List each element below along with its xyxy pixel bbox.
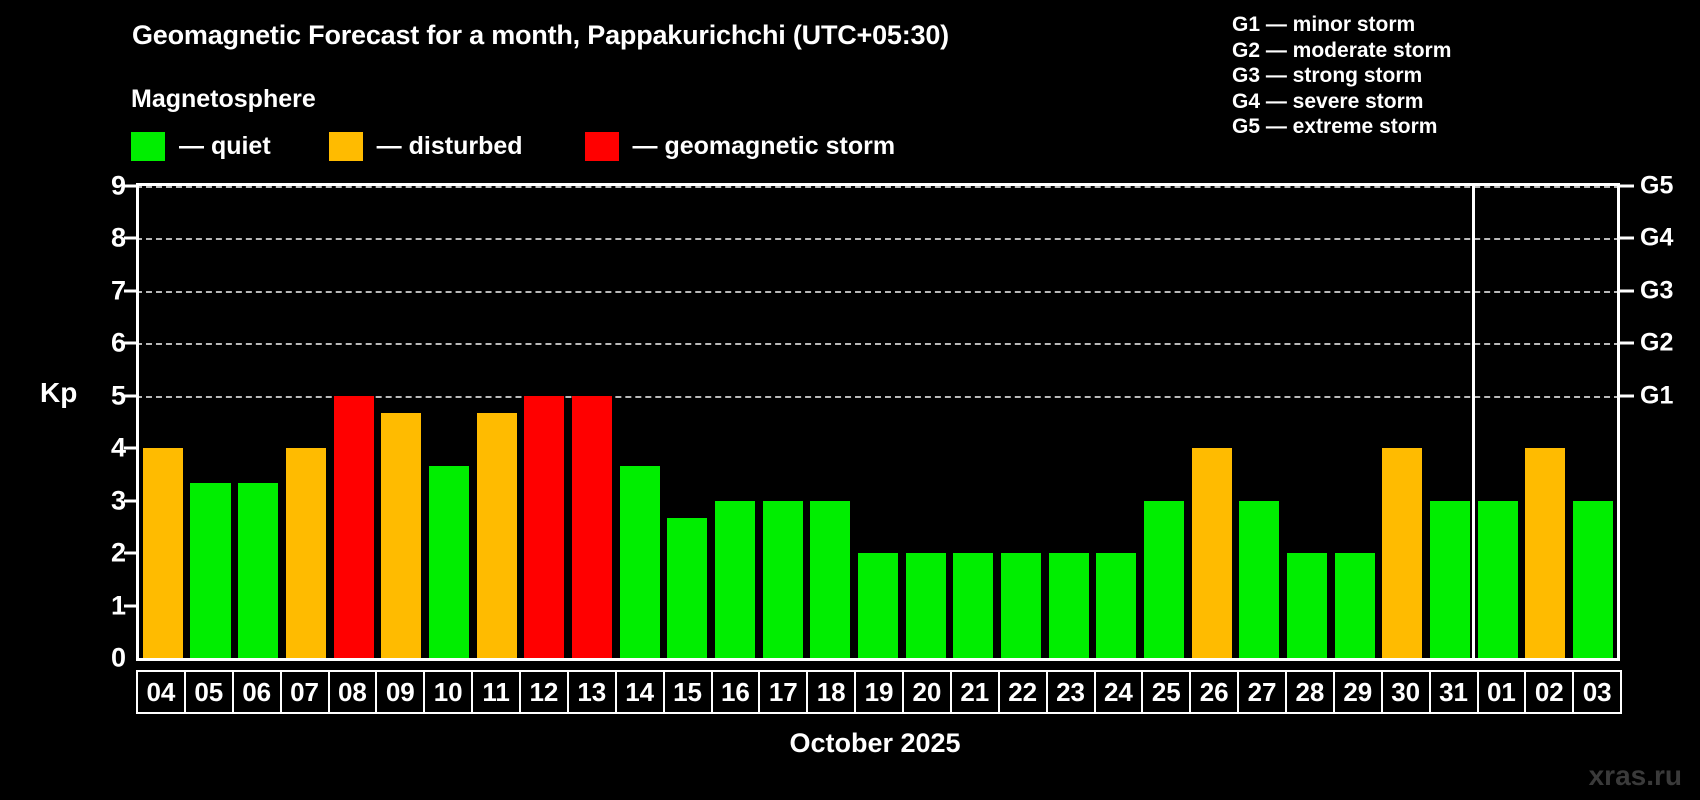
g-axis-tick-label: G1 [1640, 381, 1673, 410]
date-label[interactable]: 11 [471, 670, 521, 714]
date-label[interactable]: 05 [184, 670, 234, 714]
plot-area [136, 183, 1620, 661]
date-label[interactable]: 07 [280, 670, 330, 714]
date-label[interactable]: 29 [1333, 670, 1383, 714]
g-scale-legend: G1 — minor storm G2 — moderate storm G3 … [1232, 12, 1451, 140]
date-label[interactable]: 27 [1237, 670, 1287, 714]
date-label[interactable]: 12 [519, 670, 569, 714]
legend-swatch-quiet [131, 132, 165, 161]
date-label[interactable]: 16 [711, 670, 761, 714]
date-label[interactable]: 19 [854, 670, 904, 714]
date-label[interactable]: 01 [1477, 670, 1527, 714]
date-label[interactable]: 06 [232, 670, 282, 714]
date-label[interactable]: 03 [1572, 670, 1622, 714]
date-label[interactable]: 30 [1381, 670, 1431, 714]
date-label[interactable]: 25 [1141, 670, 1191, 714]
magnetosphere-legend: — quiet — disturbed — geomagnetic storm [131, 132, 895, 161]
g-axis-tickmark [1620, 185, 1634, 188]
date-label[interactable]: 18 [806, 670, 856, 714]
date-label[interactable]: 08 [328, 670, 378, 714]
x-axis-title: October 2025 [0, 728, 1700, 759]
date-label[interactable]: 22 [998, 670, 1048, 714]
date-label[interactable]: 13 [567, 670, 617, 714]
watermark: xras.ru [1589, 760, 1682, 792]
date-label[interactable]: 09 [375, 670, 425, 714]
date-label[interactable]: 28 [1285, 670, 1335, 714]
g-axis-tick-label: G5 [1640, 172, 1673, 201]
legend-label-storm: — geomagnetic storm [633, 132, 896, 161]
g-scale-legend-item: G3 — strong storm [1232, 63, 1451, 89]
date-label[interactable]: 20 [902, 670, 952, 714]
g-axis-tickmark [1620, 394, 1634, 397]
legend-item-disturbed: — disturbed [329, 132, 523, 161]
date-axis: 0405060708091011121314151617181920212223… [136, 670, 1620, 714]
legend-item-storm: — geomagnetic storm [585, 132, 896, 161]
g-scale-legend-item: G4 — severe storm [1232, 89, 1451, 115]
legend-label-quiet: — quiet [179, 132, 271, 161]
legend-swatch-storm [585, 132, 619, 161]
date-label[interactable]: 10 [423, 670, 473, 714]
date-label[interactable]: 23 [1046, 670, 1096, 714]
g-axis-tick-label: G4 [1640, 224, 1673, 253]
magnetosphere-heading: Magnetosphere [131, 85, 316, 114]
legend-label-disturbed: — disturbed [377, 132, 523, 161]
plot-frame [136, 183, 1620, 661]
g-axis-ticks [1620, 183, 1634, 661]
legend-swatch-disturbed [329, 132, 363, 161]
date-label[interactable]: 04 [136, 670, 186, 714]
g-axis-tickmark [1620, 289, 1634, 292]
g-axis-tick-label: G3 [1640, 276, 1673, 305]
g-axis-labels: G1G2G3G4G5 [1640, 183, 1700, 661]
date-label[interactable]: 24 [1094, 670, 1144, 714]
y-axis-labels: 0123456789 [78, 183, 126, 661]
date-label[interactable]: 14 [615, 670, 665, 714]
date-label[interactable]: 21 [950, 670, 1000, 714]
g-scale-legend-item: G5 — extreme storm [1232, 114, 1451, 140]
g-axis-tick-label: G2 [1640, 329, 1673, 358]
y-axis-title: Kp [40, 377, 77, 409]
g-scale-legend-item: G2 — moderate storm [1232, 38, 1451, 64]
date-label[interactable]: 31 [1429, 670, 1479, 714]
g-scale-legend-item: G1 — minor storm [1232, 12, 1451, 38]
date-label[interactable]: 02 [1524, 670, 1574, 714]
date-label[interactable]: 26 [1189, 670, 1239, 714]
g-axis-tickmark [1620, 342, 1634, 345]
date-label[interactable]: 15 [663, 670, 713, 714]
page-title: Geomagnetic Forecast for a month, Pappak… [132, 20, 949, 51]
date-label[interactable]: 17 [758, 670, 808, 714]
legend-item-quiet: — quiet [131, 132, 271, 161]
g-axis-tickmark [1620, 237, 1634, 240]
